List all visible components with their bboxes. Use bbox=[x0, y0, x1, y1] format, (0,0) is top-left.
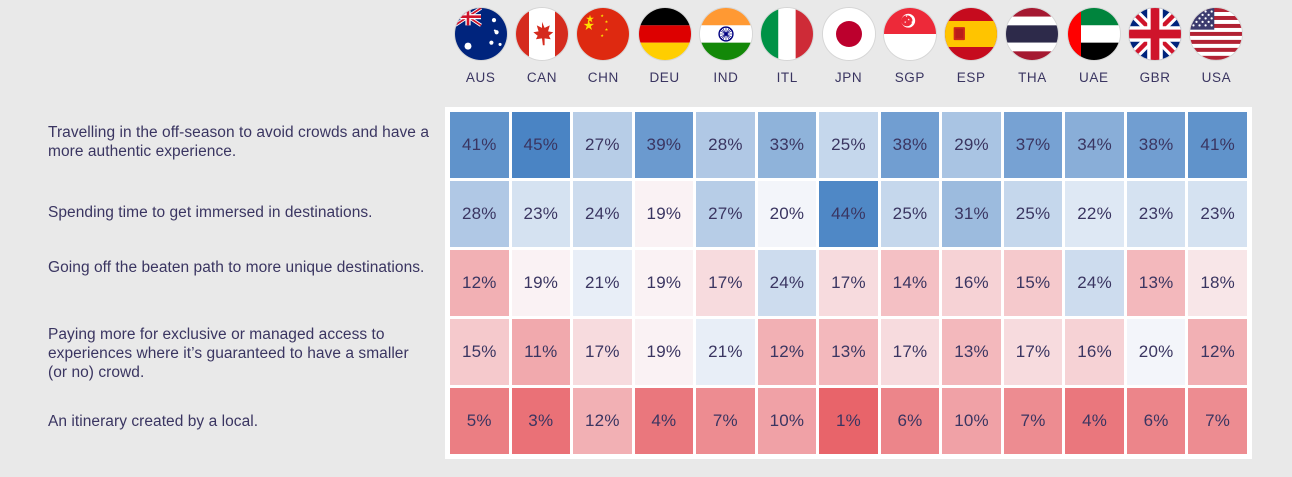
heatmap-cell-ind-r4: 21% bbox=[696, 319, 755, 385]
heatmap-cell-itl-r5: 10% bbox=[758, 388, 817, 454]
row-label-3: Going off the beaten path to more unique… bbox=[48, 258, 424, 277]
heatmap-cell-chn-r5: 12% bbox=[573, 388, 632, 454]
heatmap-cell-jpn-r5: 1% bbox=[819, 388, 878, 454]
heatmap-cell-can-r3: 19% bbox=[512, 250, 571, 316]
heatmap-cell-itl-r3: 24% bbox=[758, 250, 817, 316]
flag-uae-icon bbox=[1068, 8, 1120, 60]
heatmap-cell-itl-r4: 12% bbox=[758, 319, 817, 385]
country-code-label: IND bbox=[713, 70, 738, 85]
heatmap-cell-ind-r3: 17% bbox=[696, 250, 755, 316]
country-code-label: DEU bbox=[649, 70, 679, 85]
heatmap-cell-uae-r4: 16% bbox=[1065, 319, 1124, 385]
heatmap-cell-chn-r1: 27% bbox=[573, 112, 632, 178]
heatmap-cell-deu-r1: 39% bbox=[635, 112, 694, 178]
heatmap-cell-can-r1: 45% bbox=[512, 112, 571, 178]
country-code-label: CAN bbox=[527, 70, 557, 85]
heatmap-cell-uae-r5: 4% bbox=[1065, 388, 1124, 454]
country-code-label: AUS bbox=[466, 70, 496, 85]
heatmap-cell-esp-r1: 29% bbox=[942, 112, 1001, 178]
heatmap-cell-uae-r3: 24% bbox=[1065, 250, 1124, 316]
heatmap-cell-chn-r3: 21% bbox=[573, 250, 632, 316]
country-header-aus: AUS bbox=[450, 8, 511, 103]
heatmap-cell-usa-r3: 18% bbox=[1188, 250, 1247, 316]
country-header-chn: CHN bbox=[573, 8, 634, 103]
heatmap-cell-usa-r1: 41% bbox=[1188, 112, 1247, 178]
country-code-label: THA bbox=[1018, 70, 1047, 85]
flag-spain-icon bbox=[945, 8, 997, 60]
country-code-label: ESP bbox=[957, 70, 986, 85]
heatmap-cell-tha-r4: 17% bbox=[1004, 319, 1063, 385]
flag-canada-icon bbox=[516, 8, 568, 60]
heatmap-cell-jpn-r1: 25% bbox=[819, 112, 878, 178]
heatmap-cell-sgp-r1: 38% bbox=[881, 112, 940, 178]
flag-germany-icon bbox=[639, 8, 691, 60]
heatmap-cell-gbr-r4: 20% bbox=[1127, 319, 1186, 385]
country-code-label: SGP bbox=[895, 70, 925, 85]
country-code-label: USA bbox=[1202, 70, 1232, 85]
heatmap-cell-sgp-r2: 25% bbox=[881, 181, 940, 247]
heatmap-cell-ind-r2: 27% bbox=[696, 181, 755, 247]
heatmap-cell-tha-r2: 25% bbox=[1004, 181, 1063, 247]
country-header-tha: THA bbox=[1002, 8, 1063, 103]
heatmap-cell-gbr-r5: 6% bbox=[1127, 388, 1186, 454]
country-header-esp: ESP bbox=[941, 8, 1002, 103]
heatmap-cell-can-r4: 11% bbox=[512, 319, 571, 385]
heatmap-cell-usa-r4: 12% bbox=[1188, 319, 1247, 385]
heatmap-cell-sgp-r5: 6% bbox=[881, 388, 940, 454]
heatmap-cell-aus-r1: 41% bbox=[450, 112, 509, 178]
heatmap-cell-usa-r5: 7% bbox=[1188, 388, 1247, 454]
heatmap-row: 15%11%17%19%21%12%13%17%13%17%16%20%12% bbox=[450, 319, 1247, 385]
heatmap-row: 41%45%27%39%28%33%25%38%29%37%34%38%41% bbox=[450, 112, 1247, 178]
country-header-ind: IND bbox=[695, 8, 756, 103]
country-header-sgp: SGP bbox=[879, 8, 940, 103]
heatmap-cell-ind-r1: 28% bbox=[696, 112, 755, 178]
heatmap-cell-sgp-r4: 17% bbox=[881, 319, 940, 385]
heatmap-grid: 41%45%27%39%28%33%25%38%29%37%34%38%41%2… bbox=[445, 107, 1252, 459]
heatmap-cell-esp-r5: 10% bbox=[942, 388, 1001, 454]
heatmap-cell-jpn-r3: 17% bbox=[819, 250, 878, 316]
row-label-4: Paying more for exclusive or managed acc… bbox=[48, 325, 430, 382]
country-header-usa: USA bbox=[1186, 8, 1247, 103]
heatmap-cell-gbr-r1: 38% bbox=[1127, 112, 1186, 178]
heatmap-cell-esp-r4: 13% bbox=[942, 319, 1001, 385]
heatmap-cell-tha-r1: 37% bbox=[1004, 112, 1063, 178]
country-code-label: UAE bbox=[1079, 70, 1109, 85]
country-header-gbr: GBR bbox=[1124, 8, 1185, 103]
flag-united-states-icon bbox=[1190, 8, 1242, 60]
heatmap-cell-aus-r2: 28% bbox=[450, 181, 509, 247]
country-header-uae: UAE bbox=[1063, 8, 1124, 103]
country-header-jpn: JPN bbox=[818, 8, 879, 103]
heatmap-cell-uae-r2: 22% bbox=[1065, 181, 1124, 247]
row-label-5: An itinerary created by a local. bbox=[48, 412, 258, 431]
row-label-2: Spending time to get immersed in destina… bbox=[48, 203, 373, 222]
flag-india-icon bbox=[700, 8, 752, 60]
heatmap-cell-can-r2: 23% bbox=[512, 181, 571, 247]
flag-italy-icon bbox=[761, 8, 813, 60]
country-header-row: AUSCANCHNDEUINDITLJPNSGPESPTHAUAEGBRUSA bbox=[450, 8, 1247, 103]
heatmap-cell-gbr-r3: 13% bbox=[1127, 250, 1186, 316]
flag-china-icon bbox=[577, 8, 629, 60]
flag-japan-icon bbox=[823, 8, 875, 60]
heatmap-cell-can-r5: 3% bbox=[512, 388, 571, 454]
heatmap-cell-deu-r2: 19% bbox=[635, 181, 694, 247]
heatmap-figure: AUSCANCHNDEUINDITLJPNSGPESPTHAUAEGBRUSA … bbox=[0, 0, 1292, 477]
heatmap-cell-aus-r5: 5% bbox=[450, 388, 509, 454]
heatmap-cell-esp-r2: 31% bbox=[942, 181, 1001, 247]
heatmap-cell-ind-r5: 7% bbox=[696, 388, 755, 454]
heatmap-cell-deu-r5: 4% bbox=[635, 388, 694, 454]
heatmap-cell-itl-r2: 20% bbox=[758, 181, 817, 247]
heatmap-cell-chn-r4: 17% bbox=[573, 319, 632, 385]
row-label-1: Travelling in the off-season to avoid cr… bbox=[48, 123, 430, 161]
heatmap-cell-deu-r4: 19% bbox=[635, 319, 694, 385]
country-header-deu: DEU bbox=[634, 8, 695, 103]
country-code-label: GBR bbox=[1140, 70, 1171, 85]
heatmap-cell-deu-r3: 19% bbox=[635, 250, 694, 316]
heatmap-cell-chn-r2: 24% bbox=[573, 181, 632, 247]
heatmap-cell-aus-r4: 15% bbox=[450, 319, 509, 385]
country-header-itl: ITL bbox=[757, 8, 818, 103]
heatmap-cell-itl-r1: 33% bbox=[758, 112, 817, 178]
heatmap-cell-sgp-r3: 14% bbox=[881, 250, 940, 316]
heatmap-row: 28%23%24%19%27%20%44%25%31%25%22%23%23% bbox=[450, 181, 1247, 247]
flag-singapore-icon bbox=[884, 8, 936, 60]
country-header-can: CAN bbox=[511, 8, 572, 103]
heatmap-cell-tha-r5: 7% bbox=[1004, 388, 1063, 454]
row-label-column: Travelling in the off-season to avoid cr… bbox=[48, 107, 430, 459]
heatmap-cell-tha-r3: 15% bbox=[1004, 250, 1063, 316]
heatmap-cell-jpn-r2: 44% bbox=[819, 181, 878, 247]
heatmap-row: 12%19%21%19%17%24%17%14%16%15%24%13%18% bbox=[450, 250, 1247, 316]
heatmap-cell-gbr-r2: 23% bbox=[1127, 181, 1186, 247]
country-code-label: ITL bbox=[777, 70, 798, 85]
heatmap-cell-usa-r2: 23% bbox=[1188, 181, 1247, 247]
flag-thailand-icon bbox=[1006, 8, 1058, 60]
flag-australia-icon bbox=[455, 8, 507, 60]
flag-united-kingdom-icon bbox=[1129, 8, 1181, 60]
heatmap-cell-aus-r3: 12% bbox=[450, 250, 509, 316]
heatmap-cell-esp-r3: 16% bbox=[942, 250, 1001, 316]
country-code-label: JPN bbox=[835, 70, 862, 85]
country-code-label: CHN bbox=[588, 70, 619, 85]
heatmap-cell-uae-r1: 34% bbox=[1065, 112, 1124, 178]
heatmap-cell-jpn-r4: 13% bbox=[819, 319, 878, 385]
heatmap-row: 5%3%12%4%7%10%1%6%10%7%4%6%7% bbox=[450, 388, 1247, 454]
